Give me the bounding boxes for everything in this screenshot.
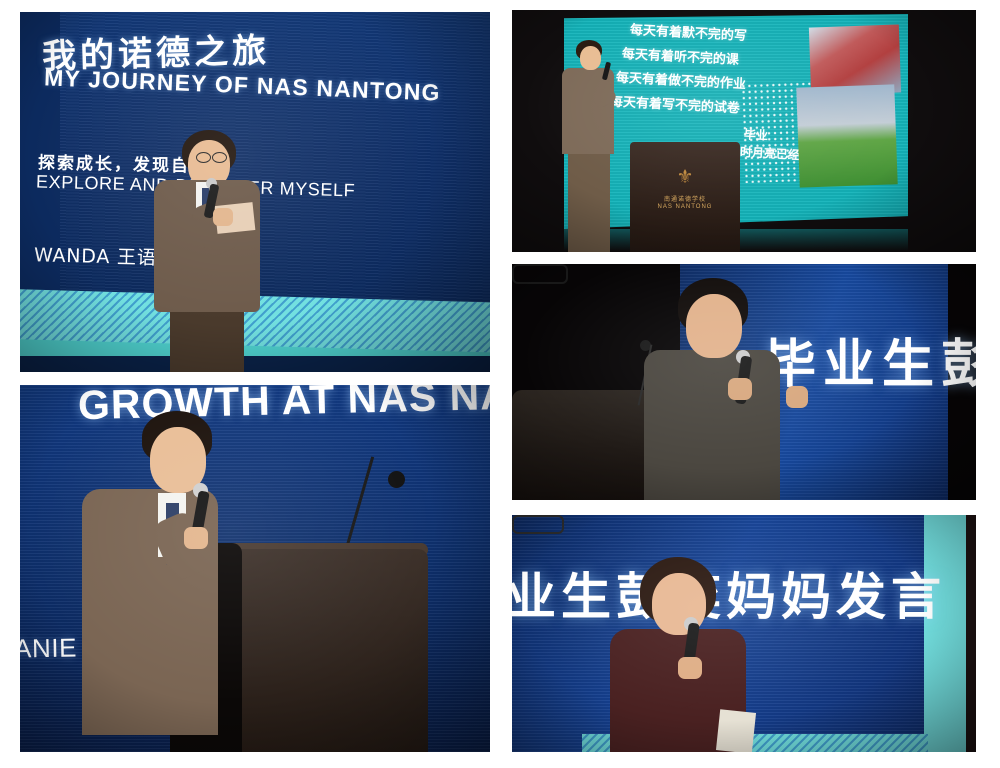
speaker-gesturing-hand [786, 386, 808, 408]
slide-line-3: 每天有着做不完的作业 [616, 67, 747, 93]
stage-floor [20, 356, 490, 372]
speaker-trousers [170, 308, 244, 372]
speaker-hand [678, 657, 702, 679]
slide-headline-chinese: 业生彭奕妈妈发言 [512, 557, 946, 629]
photo-top-left-student-speech[interactable]: 我的诺德之旅 MY JOURNEY OF NAS NANTONG 探索成长，发现… [20, 12, 490, 372]
glasses-icon [196, 152, 211, 163]
speech-notes [716, 709, 756, 752]
photo-collage: 我的诺德之旅 MY JOURNEY OF NAS NANTONG 探索成长，发现… [0, 0, 1000, 768]
podium[interactable]: ⚜ 南通诺德学校 NAS NANTONG [630, 142, 740, 252]
crown-logo-icon: ⚜ [676, 166, 693, 189]
slide-photo-sports-field [796, 84, 897, 187]
speaker-head [686, 294, 742, 358]
photo-bottom-right-parent-speech[interactable]: 业生彭奕妈妈发言 [512, 515, 976, 752]
gooseneck-mic-head-icon [388, 471, 405, 488]
speaker-jacket [644, 350, 780, 500]
speaker-hand [728, 378, 752, 400]
photo-bottom-left-student-podium[interactable]: GROWTH AT NAS NA ANIE ⚜ [20, 385, 490, 752]
glasses-icon [512, 264, 568, 284]
photo-middle-right-graduate-speech[interactable]: 毕业生彭 [512, 264, 976, 500]
speaker-head [580, 46, 601, 70]
photo-top-right-teacher-speech[interactable]: 每天有着默不完的写 每天有着听不完的课 每天有着做不完的作业 每天有着写不完的试… [512, 10, 976, 252]
teal-stripe-column [924, 515, 966, 752]
slide-speaker-name: ANIE [20, 632, 77, 664]
speaker-trousers [568, 150, 610, 252]
slide-line-2: 每天有着听不完的课 [622, 43, 740, 68]
speaker-hand [184, 527, 208, 549]
speaker-figure [512, 264, 568, 284]
podium-name-english: NAS NANTONG [630, 204, 740, 210]
slide-line-4: 每天有着写不完的试卷 [610, 91, 741, 117]
speaker-hand [213, 208, 233, 226]
glasses-icon [212, 152, 227, 163]
slide-line-1: 每天有着默不完的写 [630, 19, 748, 44]
podium-name-chinese: 南通诺德学校 [630, 194, 740, 203]
speaker-figure [512, 515, 564, 534]
glasses-icon [512, 515, 564, 534]
